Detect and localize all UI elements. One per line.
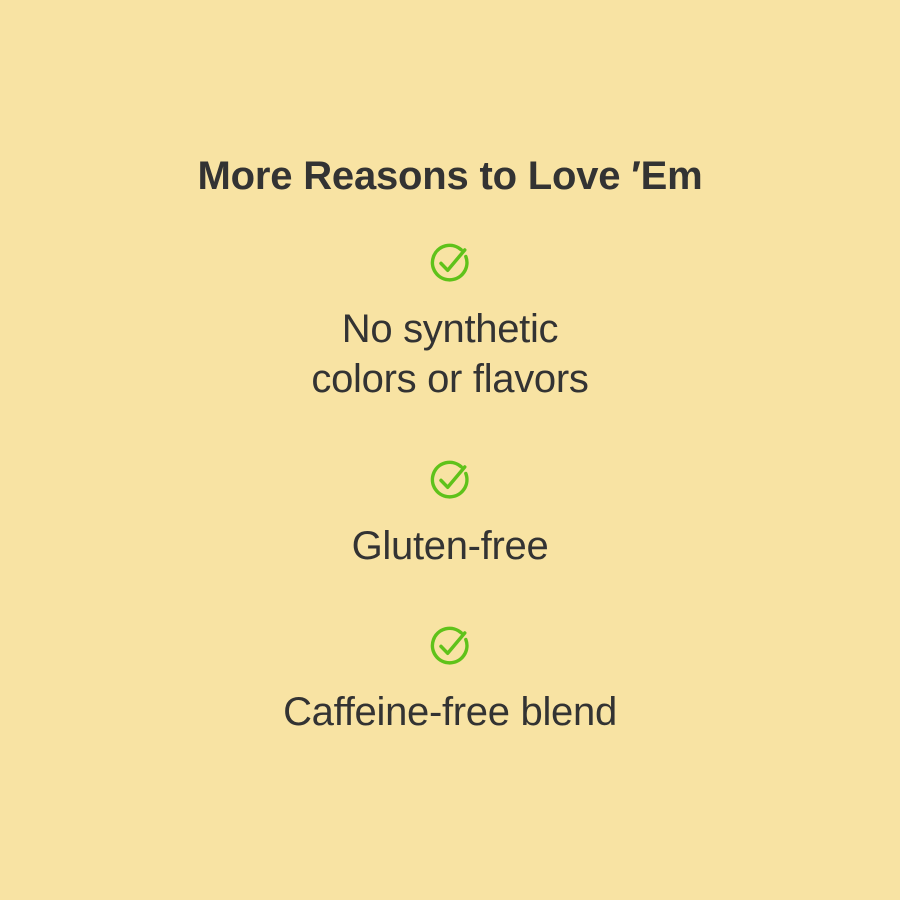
list-item: Gluten-free bbox=[0, 457, 900, 571]
check-circle-icon bbox=[427, 457, 473, 503]
marketing-benefits-panel: More Reasons to Love ′Em No synthetic co… bbox=[0, 0, 900, 900]
benefits-list: No synthetic colors or flavors Gluten-fr… bbox=[0, 240, 900, 738]
check-circle-icon bbox=[427, 623, 473, 669]
list-item-label: No synthetic colors or flavors bbox=[311, 304, 588, 405]
list-item: Caffeine-free blend bbox=[0, 623, 900, 737]
list-item-label: Gluten-free bbox=[352, 521, 549, 571]
check-circle-icon bbox=[427, 240, 473, 286]
page-title: More Reasons to Love ′Em bbox=[0, 154, 900, 198]
list-item-label: Caffeine-free blend bbox=[283, 687, 617, 737]
list-item: No synthetic colors or flavors bbox=[0, 240, 900, 405]
